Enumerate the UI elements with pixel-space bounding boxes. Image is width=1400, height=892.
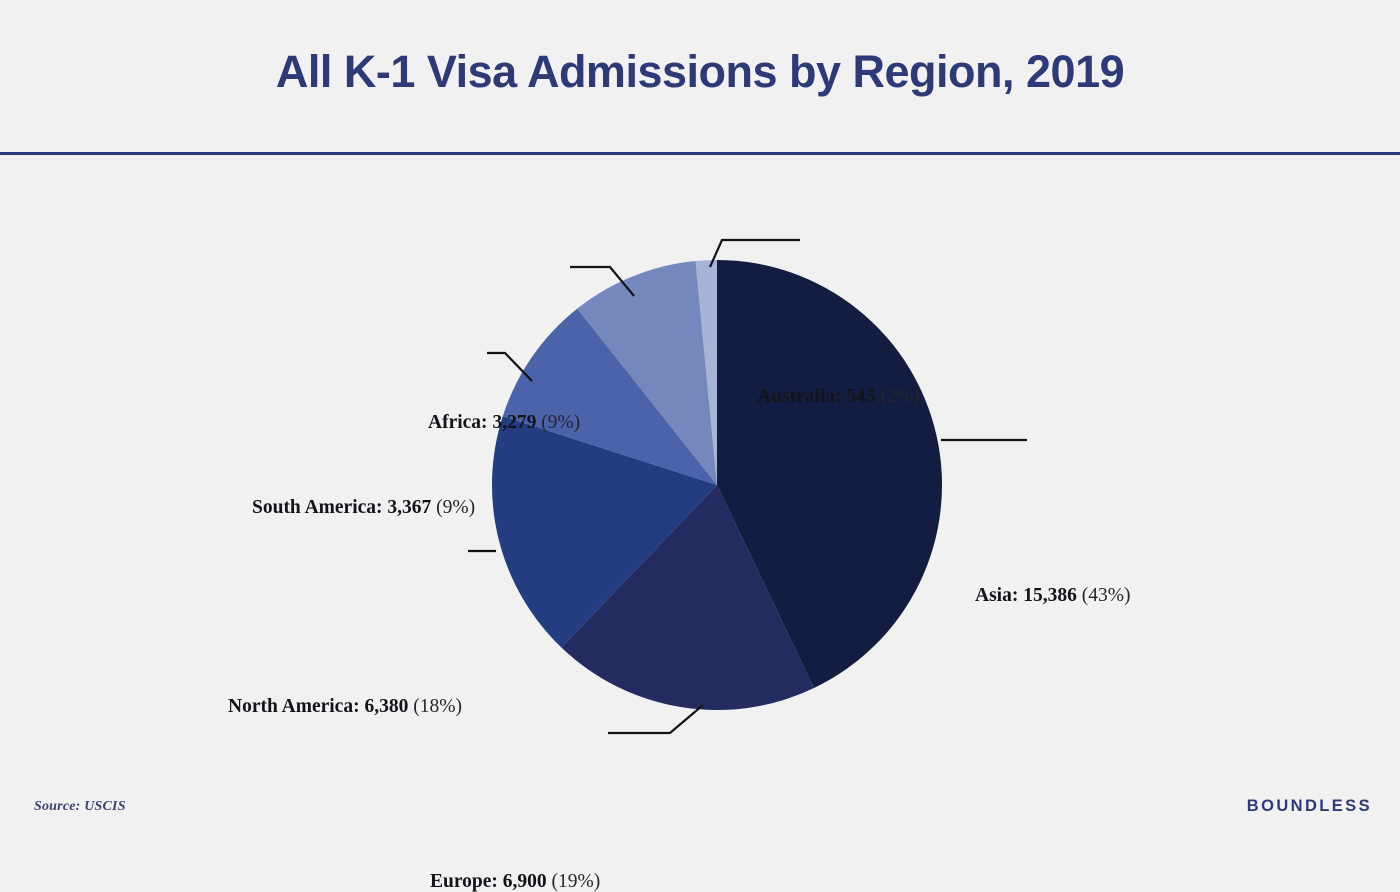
slice-label-asia: Asia: 15,386 (43%) bbox=[975, 586, 1130, 606]
infographic-canvas: All K-1 Visa Admissions by Region, 2019 bbox=[0, 0, 1400, 840]
slice-label-north-america: North America: 6,380 (18%) bbox=[228, 697, 462, 717]
header: All K-1 Visa Admissions by Region, 2019 bbox=[0, 0, 1400, 155]
slice-label-europe-percent: (19%) bbox=[552, 871, 601, 892]
slice-label-south-america: South America: 3,367 (9%) bbox=[252, 498, 475, 518]
slice-label-north-america-name: North America: bbox=[228, 696, 360, 717]
slice-label-africa-percent: (9%) bbox=[541, 412, 580, 433]
brand-logo: BOUNDLESS bbox=[1247, 797, 1372, 816]
slice-label-europe-name: Europe: bbox=[430, 871, 498, 892]
slice-label-asia-percent: (43%) bbox=[1082, 585, 1131, 606]
slice-label-australia-percent: (2%) bbox=[881, 386, 920, 407]
slice-label-asia-name: Asia: bbox=[975, 585, 1018, 606]
slice-label-africa-name: Africa: bbox=[428, 412, 488, 433]
footer: Source: USCIS BOUNDLESS bbox=[0, 765, 1400, 840]
slice-label-asia-value: 15,386 bbox=[1023, 585, 1077, 606]
slice-label-africa: Africa: 3,279 (9%) bbox=[428, 413, 580, 433]
slice-label-australia-value: 545 bbox=[846, 386, 875, 407]
source-note: Source: USCIS bbox=[34, 799, 126, 815]
slice-label-africa-value: 3,279 bbox=[492, 412, 536, 433]
pie-chart: Australia: 545 (2%) Asia: 15,386 (43%) A… bbox=[0, 155, 1400, 765]
pie-slices bbox=[492, 260, 942, 710]
page-title: All K-1 Visa Admissions by Region, 2019 bbox=[0, 46, 1400, 98]
slice-label-north-america-percent: (18%) bbox=[413, 696, 462, 717]
pie-chart-svg bbox=[0, 155, 1400, 765]
slice-label-europe: Europe: 6,900 (19%) bbox=[430, 872, 600, 892]
slice-label-australia-name: Australia: bbox=[757, 386, 842, 407]
slice-label-north-america-value: 6,380 bbox=[364, 696, 408, 717]
slice-label-europe-value: 6,900 bbox=[503, 871, 547, 892]
slice-label-australia: Australia: 545 (2%) bbox=[757, 387, 919, 407]
slice-label-south-america-percent: (9%) bbox=[436, 497, 475, 518]
slice-label-south-america-value: 3,367 bbox=[387, 497, 431, 518]
leader-line-europe bbox=[608, 705, 703, 733]
slice-label-south-america-name: South America: bbox=[252, 497, 383, 518]
